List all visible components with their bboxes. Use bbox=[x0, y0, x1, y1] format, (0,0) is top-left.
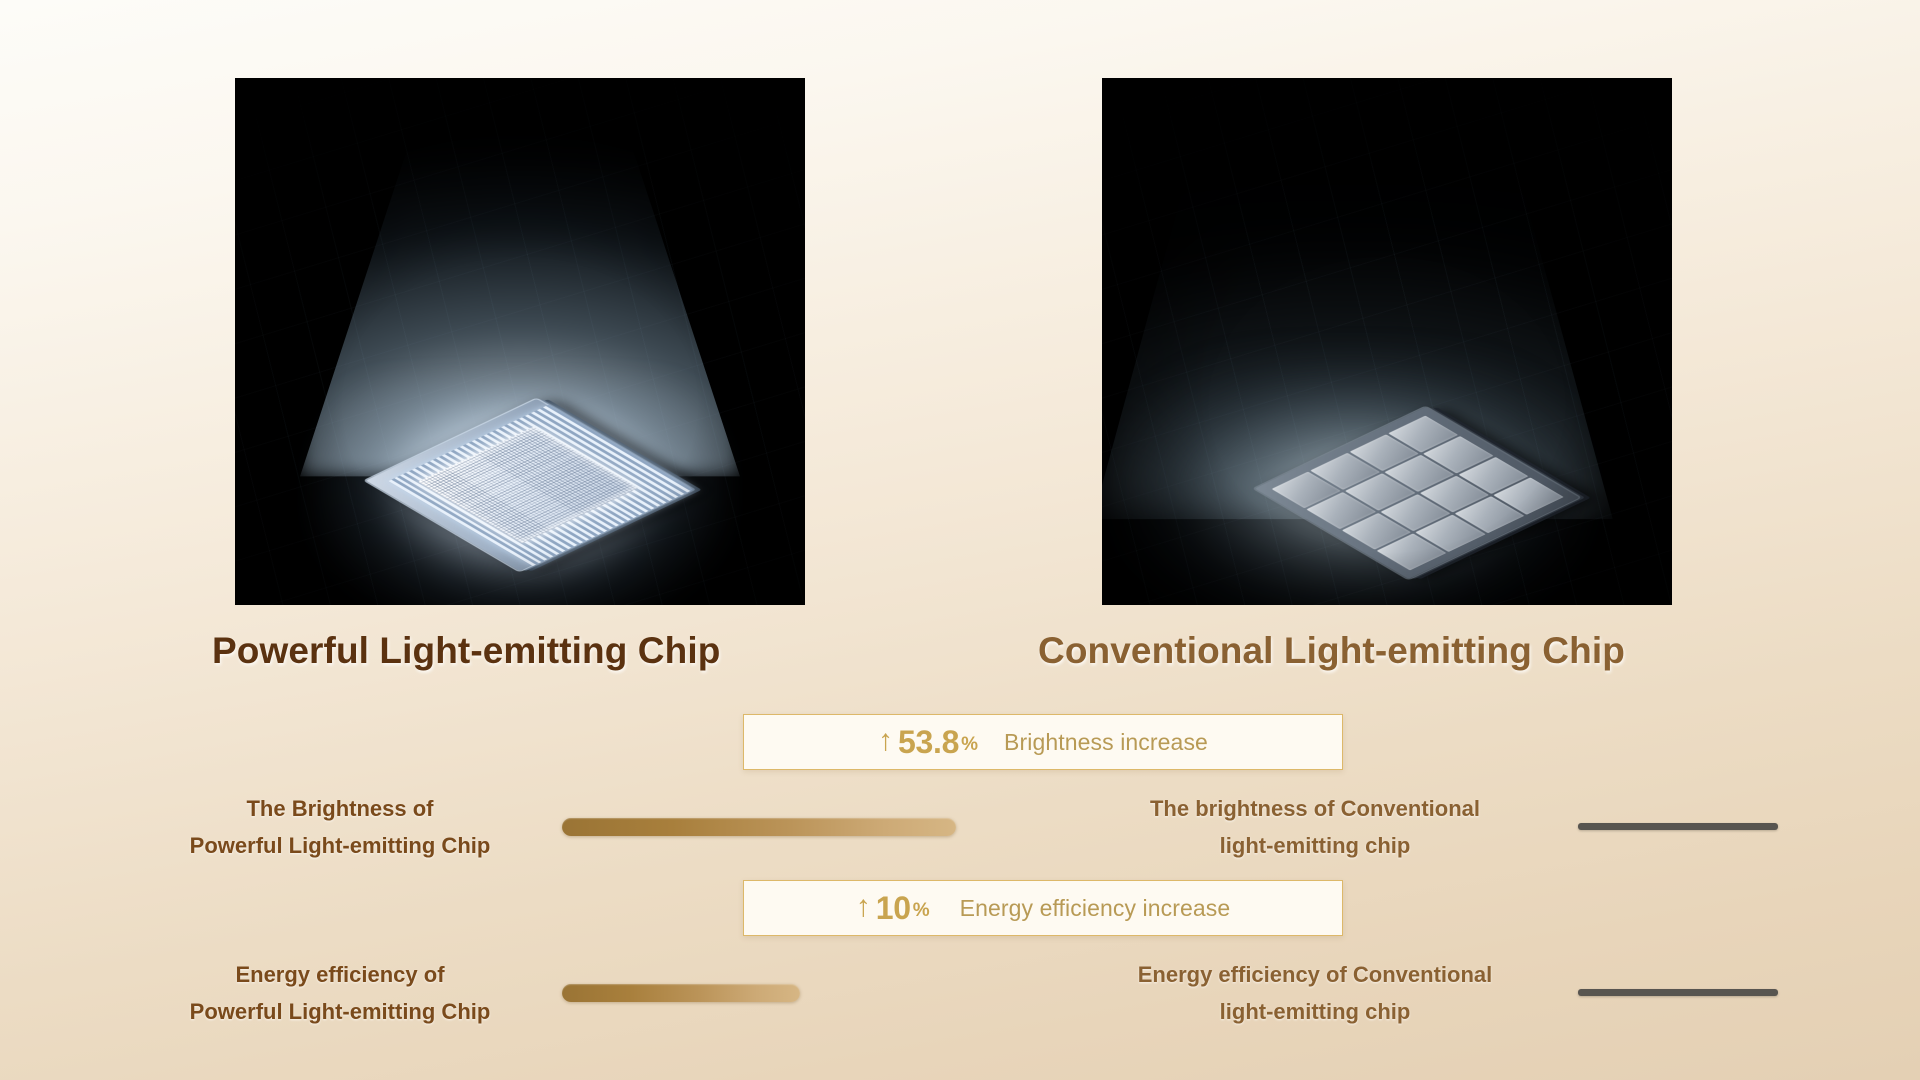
energy-increase-value: 10 bbox=[876, 890, 911, 927]
energy-powerful-label: Energy efficiency of Powerful Light-emit… bbox=[130, 956, 550, 1030]
brightness-powerful-label-line2: Powerful Light-emitting Chip bbox=[130, 827, 550, 864]
brightness-increase-label: Brightness increase bbox=[1004, 729, 1208, 756]
energy-conventional-label: Energy efficiency of Conventional light-… bbox=[1090, 956, 1540, 1030]
energy-powerful-label-line2: Powerful Light-emitting Chip bbox=[130, 993, 550, 1030]
energy-powerful-label-line1: Energy efficiency of bbox=[130, 956, 550, 993]
energy-efficiency-increase-badge: ↑ 10 % Energy efficiency increase bbox=[743, 880, 1343, 936]
energy-increase-unit: % bbox=[913, 900, 930, 922]
energy-metric-row: Energy efficiency of Powerful Light-emit… bbox=[0, 956, 1920, 1036]
powerful-chip-caption: Powerful Light-emitting Chip bbox=[212, 630, 720, 672]
brightness-conventional-label-line1: The brightness of Conventional bbox=[1090, 790, 1540, 827]
brightness-increase-unit: % bbox=[961, 734, 978, 756]
arrow-up-icon: ↑ bbox=[856, 892, 871, 922]
brightness-metric-row: The Brightness of Powerful Light-emittin… bbox=[0, 790, 1920, 870]
brightness-conventional-label-line2: light-emitting chip bbox=[1090, 827, 1540, 864]
energy-powerful-bar bbox=[562, 984, 800, 1002]
brightness-powerful-bar bbox=[562, 818, 956, 836]
comparison-slide: Powerful Light-emitting Chip Conventiona… bbox=[0, 0, 1920, 1080]
energy-conventional-label-line2: light-emitting chip bbox=[1090, 993, 1540, 1030]
brightness-increase-value: 53.8 bbox=[898, 724, 959, 761]
arrow-up-icon: ↑ bbox=[878, 726, 893, 756]
brightness-increase-badge: ↑ 53.8 % Brightness increase bbox=[743, 714, 1343, 770]
powerful-chip-photo bbox=[235, 78, 805, 605]
brightness-conventional-bar bbox=[1578, 823, 1778, 830]
energy-conventional-label-line1: Energy efficiency of Conventional bbox=[1090, 956, 1540, 993]
brightness-powerful-label: The Brightness of Powerful Light-emittin… bbox=[130, 790, 550, 864]
energy-increase-label: Energy efficiency increase bbox=[960, 895, 1231, 922]
conventional-chip-photo bbox=[1102, 78, 1672, 605]
brightness-conventional-label: The brightness of Conventional light-emi… bbox=[1090, 790, 1540, 864]
conventional-chip-caption: Conventional Light-emitting Chip bbox=[1038, 630, 1625, 672]
energy-conventional-bar bbox=[1578, 989, 1778, 996]
brightness-powerful-label-line1: The Brightness of bbox=[130, 790, 550, 827]
